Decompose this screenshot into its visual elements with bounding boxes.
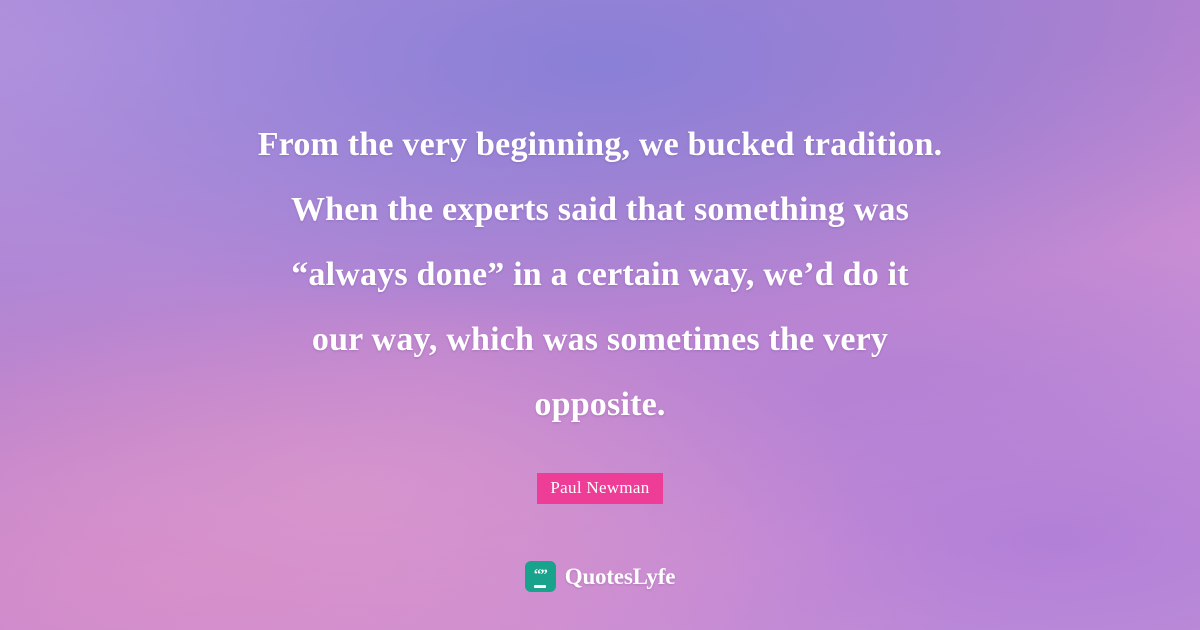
author-badge: Paul Newman: [537, 473, 662, 504]
poster-content: From the very beginning, we bucked tradi…: [0, 0, 1200, 630]
quote-logo-underline: [534, 585, 546, 588]
quote-poster: From the very beginning, we bucked tradi…: [0, 0, 1200, 630]
brand-name: QuotesLyfe: [565, 564, 675, 590]
quote-line-1: From the very beginning, we bucked tradi…: [130, 112, 1070, 177]
brand-footer: “” QuotesLyfe: [0, 561, 1200, 592]
quote-text-block: From the very beginning, we bucked tradi…: [130, 0, 1070, 437]
author-badge-wrapper: Paul Newman: [537, 473, 662, 504]
quote-line-4: our way, which was sometimes the very: [130, 307, 1070, 372]
quote-line-3: “always done” in a certain way, we’d do …: [130, 242, 1070, 307]
quote-line-5: opposite.: [130, 372, 1070, 437]
quote-logo-icon: “”: [525, 561, 556, 592]
quote-line-2: When the experts said that something was: [130, 177, 1070, 242]
quote-logo-glyph: “”: [534, 568, 547, 583]
